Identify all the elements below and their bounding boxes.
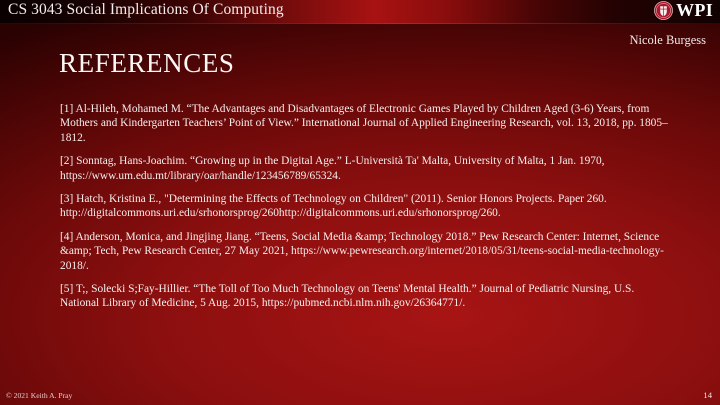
author-name: Nicole Burgess [630,33,707,48]
references-list: [1] Al-Hileh, Mohamed M. “The Advantages… [60,102,668,311]
reference-item: [2] Sonntag, Hans-Joachim. “Growing up i… [60,154,668,183]
reference-item: [3] Hatch, Kristina E., "Determining the… [60,192,668,221]
slide-header-bar: CS 3043 Social Implications Of Computing… [0,0,720,24]
footer-copyright: © 2021 Keith A. Pray [6,391,72,400]
presentation-slide: CS 3043 Social Implications Of Computing… [0,0,720,405]
reference-item: [1] Al-Hileh, Mohamed M. “The Advantages… [60,102,668,145]
wpi-wordmark: WPI [676,1,713,20]
page-title: REFERENCES [59,48,235,79]
course-title: CS 3043 Social Implications Of Computing [8,1,284,19]
page-number: 14 [703,390,712,400]
wpi-logo: WPI [654,1,713,20]
reference-item: [5] T;, Solecki S;Fay-Hillier. “The Toll… [60,282,668,311]
reference-item: [4] Anderson, Monica, and Jingjing Jiang… [60,230,668,273]
wpi-seal-icon [654,1,673,20]
